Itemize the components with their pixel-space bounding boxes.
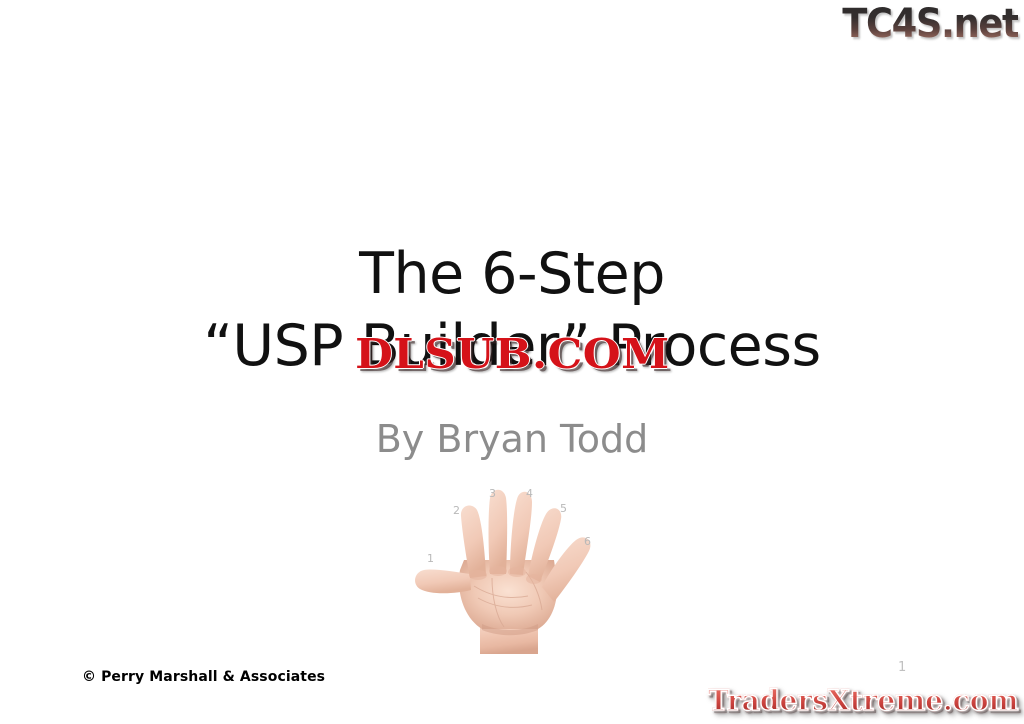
finger-label-5: 5 — [560, 503, 567, 515]
tc4s-site-logo: TC4S.net — [842, 2, 1018, 46]
slide-subtitle-author: By Bryan Todd — [0, 414, 1024, 464]
title-line-2: “USP Builder” Process — [0, 310, 1024, 382]
finger-3 — [489, 490, 508, 574]
six-fingered-hand-graphic: 1 2 3 4 5 6 — [408, 474, 618, 654]
presentation-slide: TC4S.net The 6-Step “USP Builder” Proces… — [0, 0, 1024, 724]
finger-label-4: 4 — [526, 488, 533, 500]
finger-label-3: 3 — [489, 488, 496, 500]
finger-label-1: 1 — [427, 553, 434, 565]
title-line-1: The 6-Step — [0, 238, 1024, 310]
copyright-notice: © Perry Marshall & Associates — [82, 668, 325, 686]
page-number: 1 — [898, 660, 906, 676]
finger-label-6: 6 — [584, 536, 591, 548]
slide-title: The 6-Step “USP Builder” Process — [0, 238, 1024, 382]
tradersxtreme-watermark: TradersXtreme.com — [708, 684, 1018, 718]
hand-illustration — [408, 474, 618, 654]
finger-label-2: 2 — [453, 505, 460, 517]
finger-1 — [415, 569, 471, 593]
